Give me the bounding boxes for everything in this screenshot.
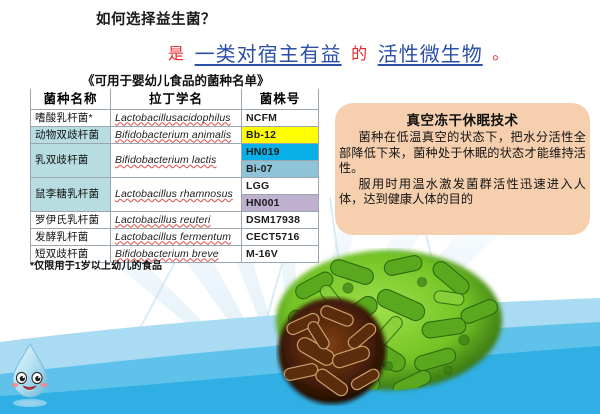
slide-canvas: 如何选择益生菌？ 是 一类对宿主有益 的 活性微生物 。 《可用于婴幼儿食品的菌… [0, 0, 600, 414]
brown-bacteria-image [276, 296, 388, 406]
green-bacteria-image [272, 248, 506, 398]
cell-species-name: 发酵乳杆菌 [31, 229, 111, 246]
info-panel-body: 菌种在低温真空的状态下，把水分活性全部降低下来，菌种处于休眠的状态才能维持活性。… [339, 130, 586, 208]
water-droplet-mascot [6, 340, 54, 410]
cell-strain-number: Bi-07 [242, 161, 319, 178]
table-row: 动物双歧杆菌Bifidobacterium animalisBb-12 [31, 127, 319, 144]
cell-strain-number: DSM17938 [242, 212, 319, 229]
bottom-wave-decoration [0, 284, 600, 414]
cell-latin-name: Bifidobacterium lactis [111, 144, 242, 178]
species-table-body: 嗜酸乳杆菌*LactobacillusacidophilusNCFM动物双歧杆菌… [31, 110, 319, 263]
definition-lead: 是 [168, 46, 185, 63]
cell-strain-number: CECT5716 [242, 229, 319, 246]
table-row: 嗜酸乳杆菌*LactobacillusacidophilusNCFM [31, 110, 319, 127]
cell-species-name: 乳双歧杆菌 [31, 144, 111, 178]
table-row: 乳双歧杆菌Bifidobacterium lactisHN019 [31, 144, 319, 161]
cell-latin-name: Lactobacillusacidophilus [111, 110, 242, 127]
cell-species-name: 罗伊氏乳杆菌 [31, 212, 111, 229]
cell-strain-number: NCFM [242, 110, 319, 127]
definition-highlight-1: 一类对宿主有益 [195, 44, 342, 66]
table-row: 发酵乳杆菌Lactobacillus fermentumCECT5716 [31, 229, 319, 246]
cell-latin-name: Lactobacillus fermentum [111, 229, 242, 246]
cell-species-name: 动物双歧杆菌 [31, 127, 111, 144]
table-header-row: 菌种名称 拉丁学名 菌株号 [31, 89, 319, 110]
table-caption: 《可用于婴幼儿食品的菌种名单》 [82, 70, 270, 89]
cell-strain-number: HN001 [242, 195, 319, 212]
table-row: 罗伊氏乳杆菌Lactobacillus reuteriDSM17938 [31, 212, 319, 229]
table-footnote: *仅限用于1岁以上幼儿的食品 [30, 257, 162, 272]
column-header-name: 菌种名称 [31, 89, 111, 110]
column-header-strain: 菌株号 [242, 89, 319, 110]
cell-species-name: 鼠李糖乳杆菌 [31, 178, 111, 212]
definition-highlight-2: 活性微生物 [378, 44, 483, 66]
info-paragraph-2: 服用时用温水激发菌群活性迅速进入人体，达到健康人体的目的 [339, 177, 586, 208]
cell-strain-number: M-16V [242, 246, 319, 263]
cell-latin-name: Bifidobacterium animalis [111, 127, 242, 144]
info-panel-title: 真空冻干休眠技术 [339, 109, 586, 129]
species-table: 菌种名称 拉丁学名 菌株号 嗜酸乳杆菌*Lactobacillusacidoph… [30, 89, 319, 263]
vacuum-freeze-dry-info-panel: 真空冻干休眠技术 菌种在低温真空的状态下，把水分活性全部降低下来，菌种处于休眠的… [335, 103, 590, 235]
info-paragraph-1: 菌种在低温真空的状态下，把水分活性全部降低下来，菌种处于休眠的状态才能维持活性。 [339, 130, 586, 177]
cell-latin-name: Lactobacillus rhamnosus [111, 178, 242, 212]
definition-line: 是 一类对宿主有益 的 活性微生物 。 [168, 38, 509, 67]
column-header-latin: 拉丁学名 [111, 89, 242, 110]
cell-strain-number: Bb-12 [242, 127, 319, 144]
page-title: 如何选择益生菌？ [96, 8, 216, 29]
cell-species-name: 嗜酸乳杆菌* [31, 110, 111, 127]
table-row: 鼠李糖乳杆菌Lactobacillus rhamnosusLGG [31, 178, 319, 195]
species-table-container: 菌种名称 拉丁学名 菌株号 嗜酸乳杆菌*Lactobacillusacidoph… [30, 89, 318, 263]
definition-connector: 的 [351, 46, 368, 63]
definition-period: 。 [492, 46, 509, 63]
cell-latin-name: Lactobacillus reuteri [111, 212, 242, 229]
cell-strain-number: LGG [242, 178, 319, 195]
cell-strain-number: HN019 [242, 144, 319, 161]
